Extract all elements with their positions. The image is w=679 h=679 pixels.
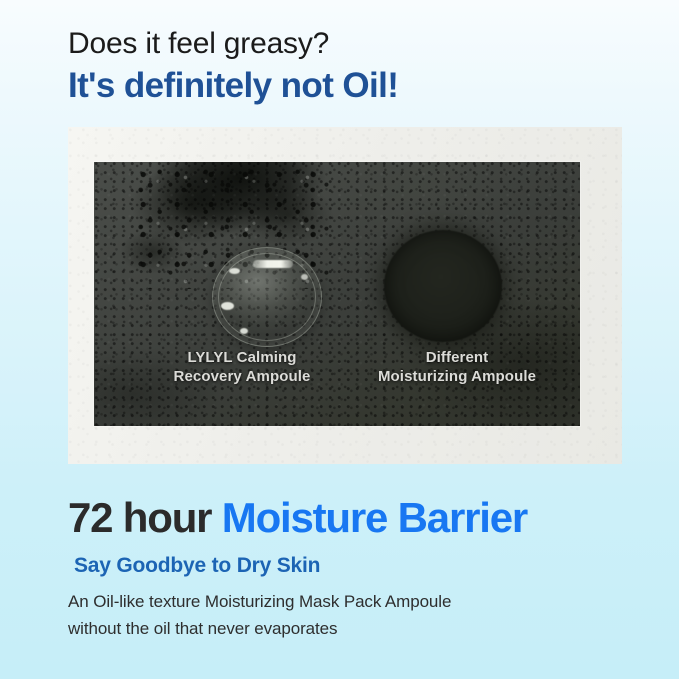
caption-different-ampoule: Different Moisturizing Ampoule (342, 348, 572, 386)
comparison-photo-card: LYLYL Calming Recovery Ampoule Different… (68, 127, 622, 464)
body-copy-line1: An Oil-like texture Moisturizing Mask Pa… (68, 588, 648, 615)
headline-question: Does it feel greasy? (68, 26, 628, 62)
headline-answer: It's definitely not Oil! (68, 65, 628, 107)
droplet-highlight-a (229, 268, 240, 274)
caption-lylyl-line2: Recovery Ampoule (122, 367, 362, 386)
lylyl-ampoule-droplet (212, 247, 322, 347)
claim-duration: 72 hour (68, 494, 211, 541)
droplet-highlight-main (253, 260, 293, 268)
bottom-copy-block: 72 hour Moisture Barrier Say Goodbye to … (68, 493, 648, 642)
droplet-highlight-c (240, 328, 248, 334)
product-marketing-poster: Does it feel greasy? It's definitely not… (0, 0, 679, 679)
caption-lylyl-line1: LYLYL Calming (122, 348, 362, 367)
caption-different-line2: Moisturizing Ampoule (342, 367, 572, 386)
droplet-highlight-b (221, 302, 234, 310)
claim-highlight: Moisture Barrier (222, 494, 527, 541)
body-copy-line2: without the oil that never evaporates (68, 615, 648, 642)
different-ampoule-absorbed-spot (384, 230, 502, 342)
body-copy: An Oil-like texture Moisturizing Mask Pa… (68, 588, 648, 642)
main-claim: 72 hour Moisture Barrier (68, 493, 648, 543)
photo-dark-panel: LYLYL Calming Recovery Ampoule Different… (94, 162, 580, 426)
caption-lylyl-ampoule: LYLYL Calming Recovery Ampoule (122, 348, 362, 386)
sub-claim: Say Goodbye to Dry Skin (74, 553, 648, 579)
headline-block: Does it feel greasy? It's definitely not… (68, 26, 628, 107)
droplet-highlight-d (301, 274, 308, 280)
caption-different-line1: Different (342, 348, 572, 367)
